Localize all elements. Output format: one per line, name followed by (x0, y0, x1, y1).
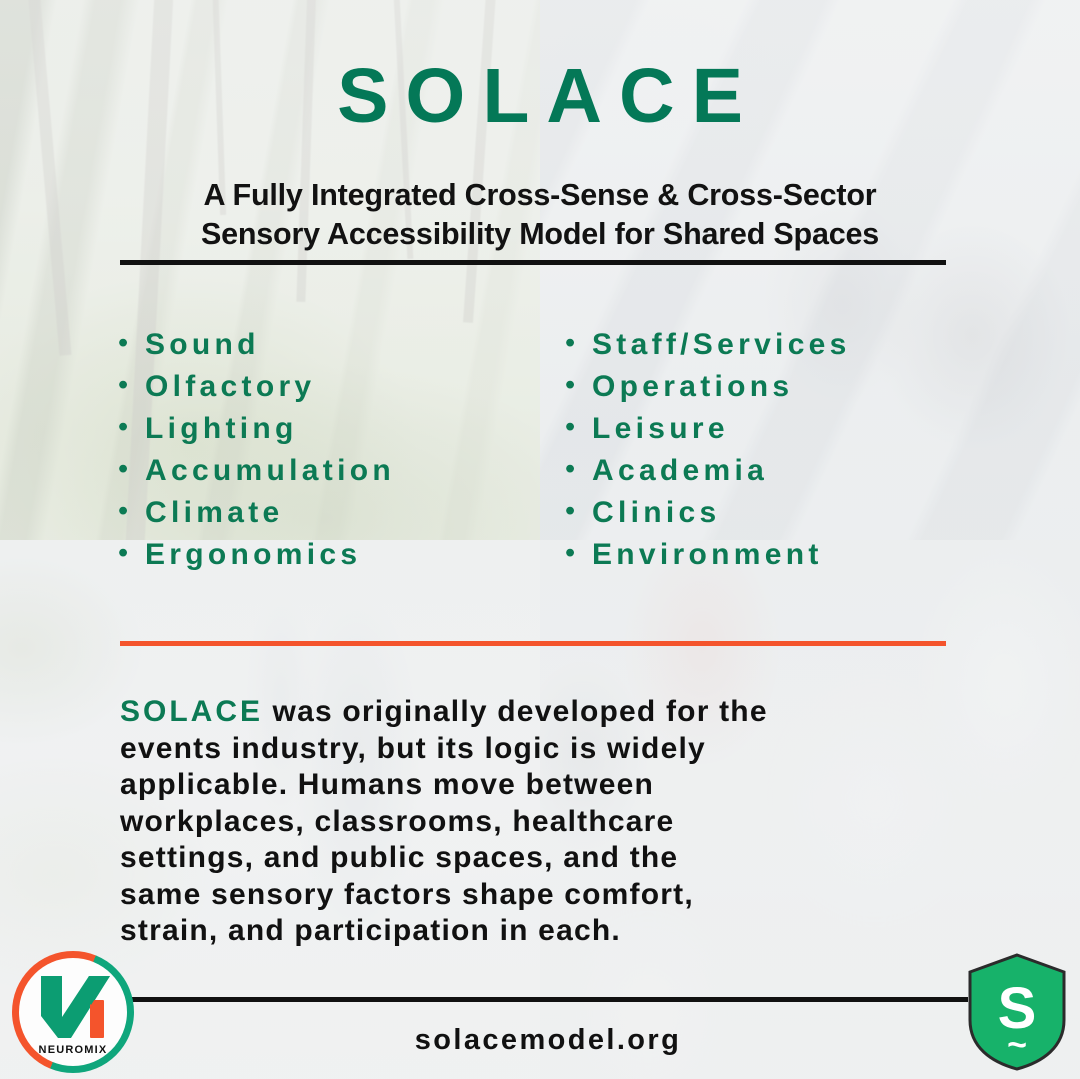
list-item-label: Academia (592, 456, 768, 486)
list-item: • Academia (565, 456, 851, 498)
bullet-icon: • (118, 329, 145, 358)
body-line-1-rest: was originally developed for the (263, 695, 768, 728)
bullet-icon: • (118, 455, 145, 484)
list-item: • Operations (565, 372, 851, 414)
page-subtitle: A Fully Integrated Cross-Sense & Cross-S… (110, 176, 970, 254)
page-title: SOLACE (0, 58, 1080, 135)
list-item: • Climate (118, 498, 395, 540)
bullet-icon: • (565, 413, 592, 442)
divider-bottom (128, 997, 968, 1002)
list-item-label: Clinics (592, 498, 720, 528)
bullet-icon: • (118, 371, 145, 400)
body-line-6: same sensory factors shape comfort, (120, 877, 960, 914)
list-item: • Leisure (565, 414, 851, 456)
sectors-column: • Staff/Services • Operations • Leisure … (565, 330, 851, 582)
solace-shield-logo[interactable]: S ~ (965, 952, 1069, 1072)
solace-poster: SOLACE A Fully Integrated Cross-Sense & … (0, 0, 1080, 1079)
list-item: • Accumulation (118, 456, 395, 498)
list-item: • Olfactory (118, 372, 395, 414)
divider-orange (120, 641, 946, 646)
list-item: • Staff/Services (565, 330, 851, 372)
list-item: • Sound (118, 330, 395, 372)
neuromix-vi-monogram-icon (31, 972, 115, 1046)
list-item-label: Staff/Services (592, 330, 851, 360)
list-item-label: Lighting (145, 414, 298, 444)
divider-top (120, 260, 946, 265)
bullet-icon: • (118, 413, 145, 442)
body-line-1: SOLACE was originally developed for the (120, 694, 960, 731)
list-item-label: Sound (145, 330, 260, 360)
list-item-label: Ergonomics (145, 540, 361, 570)
bullet-icon: • (565, 329, 592, 358)
category-columns: • Sound • Olfactory • Lighting • Accumul… (0, 330, 1080, 588)
list-item-label: Accumulation (145, 456, 395, 486)
neuromix-logo[interactable]: NEUROMIX (12, 951, 134, 1073)
list-item: • Environment (565, 540, 851, 582)
bullet-icon: • (118, 539, 145, 568)
body-line-5: settings, and public spaces, and the (120, 840, 960, 877)
body-line-7: strain, and participation in each. (120, 913, 960, 950)
bullet-icon: • (565, 371, 592, 400)
subtitle-line-1: A Fully Integrated Cross-Sense & Cross-S… (110, 176, 970, 215)
subtitle-line-2: Sensory Accessibility Model for Shared S… (110, 215, 970, 254)
list-item-label: Operations (592, 372, 793, 402)
bullet-icon: • (565, 497, 592, 526)
body-paragraph: SOLACE was originally developed for the … (120, 694, 960, 950)
body-line-3: applicable. Humans move between (120, 767, 960, 804)
body-line-2: events industry, but its logic is widely (120, 731, 960, 768)
body-lead-word: SOLACE (120, 695, 263, 728)
list-item: • Clinics (565, 498, 851, 540)
bullet-icon: • (118, 497, 145, 526)
website-url[interactable]: solacemodel.org (128, 1023, 968, 1057)
list-item-label: Olfactory (145, 372, 315, 402)
bullet-icon: • (565, 455, 592, 484)
list-item-label: Climate (145, 498, 283, 528)
shield-wave-icon: ~ (1007, 1026, 1027, 1064)
bullet-icon: • (565, 539, 592, 568)
list-item-label: Leisure (592, 414, 729, 444)
senses-column: • Sound • Olfactory • Lighting • Accumul… (118, 330, 395, 582)
neuromix-wordmark: NEUROMIX (12, 1044, 134, 1056)
list-item: • Ergonomics (118, 540, 395, 582)
list-item: • Lighting (118, 414, 395, 456)
body-line-4: workplaces, classrooms, healthcare (120, 804, 960, 841)
list-item-label: Environment (592, 540, 823, 570)
